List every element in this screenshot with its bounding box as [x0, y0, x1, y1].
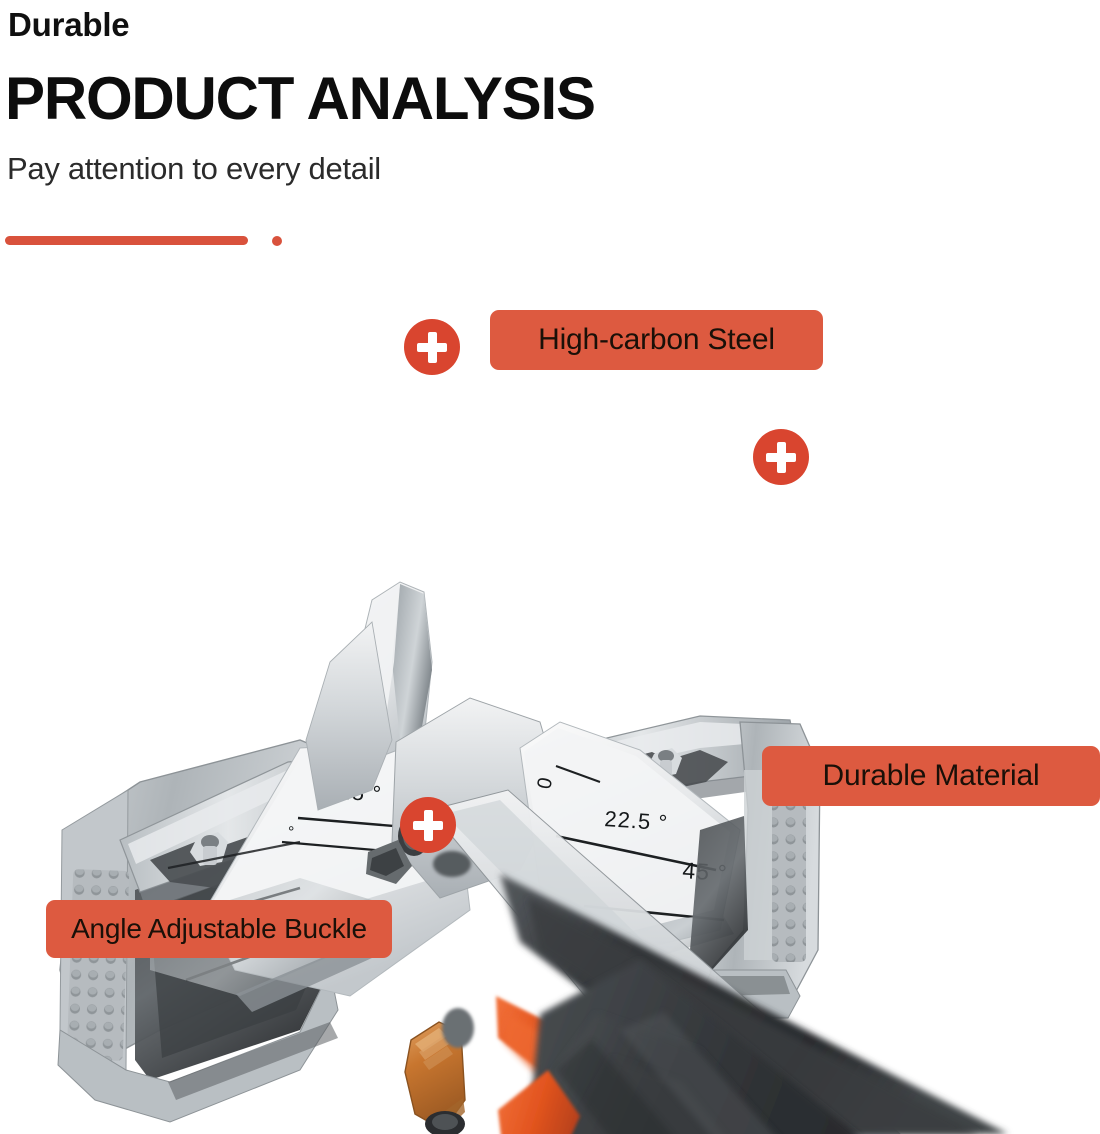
product-image: 22.5 ° ° 45 °	[0, 270, 1100, 1134]
angle-shear-tool-illustration: 22.5 ° ° 45 °	[0, 270, 1100, 1134]
header-block: Durable PRODUCT ANALYSIS Pay attention t…	[0, 0, 1100, 270]
product-analysis-infographic: Durable PRODUCT ANALYSIS Pay attention t…	[0, 0, 1100, 1134]
plus-icon-angle-adjustable-buckle[interactable]	[400, 797, 456, 853]
angle-label-zero-left: °	[288, 824, 294, 841]
eyebrow-text: Durable	[8, 4, 129, 46]
plus-icon-durable-material[interactable]	[753, 429, 809, 485]
subtitle-text: Pay attention to every detail	[7, 148, 381, 190]
callout-badge-angle-adjustable-buckle[interactable]: Angle Adjustable Buckle	[46, 900, 392, 958]
accent-dot	[272, 236, 282, 246]
page-title: PRODUCT ANALYSIS	[5, 62, 595, 136]
angle-label-22-5-right: 22.5 °	[604, 806, 669, 835]
accent-divider	[5, 236, 248, 245]
plus-icon-high-carbon-steel[interactable]	[404, 319, 460, 375]
callout-badge-durable-material[interactable]: Durable Material	[762, 746, 1100, 806]
callout-badge-high-carbon-steel[interactable]: High-carbon Steel	[490, 310, 823, 370]
